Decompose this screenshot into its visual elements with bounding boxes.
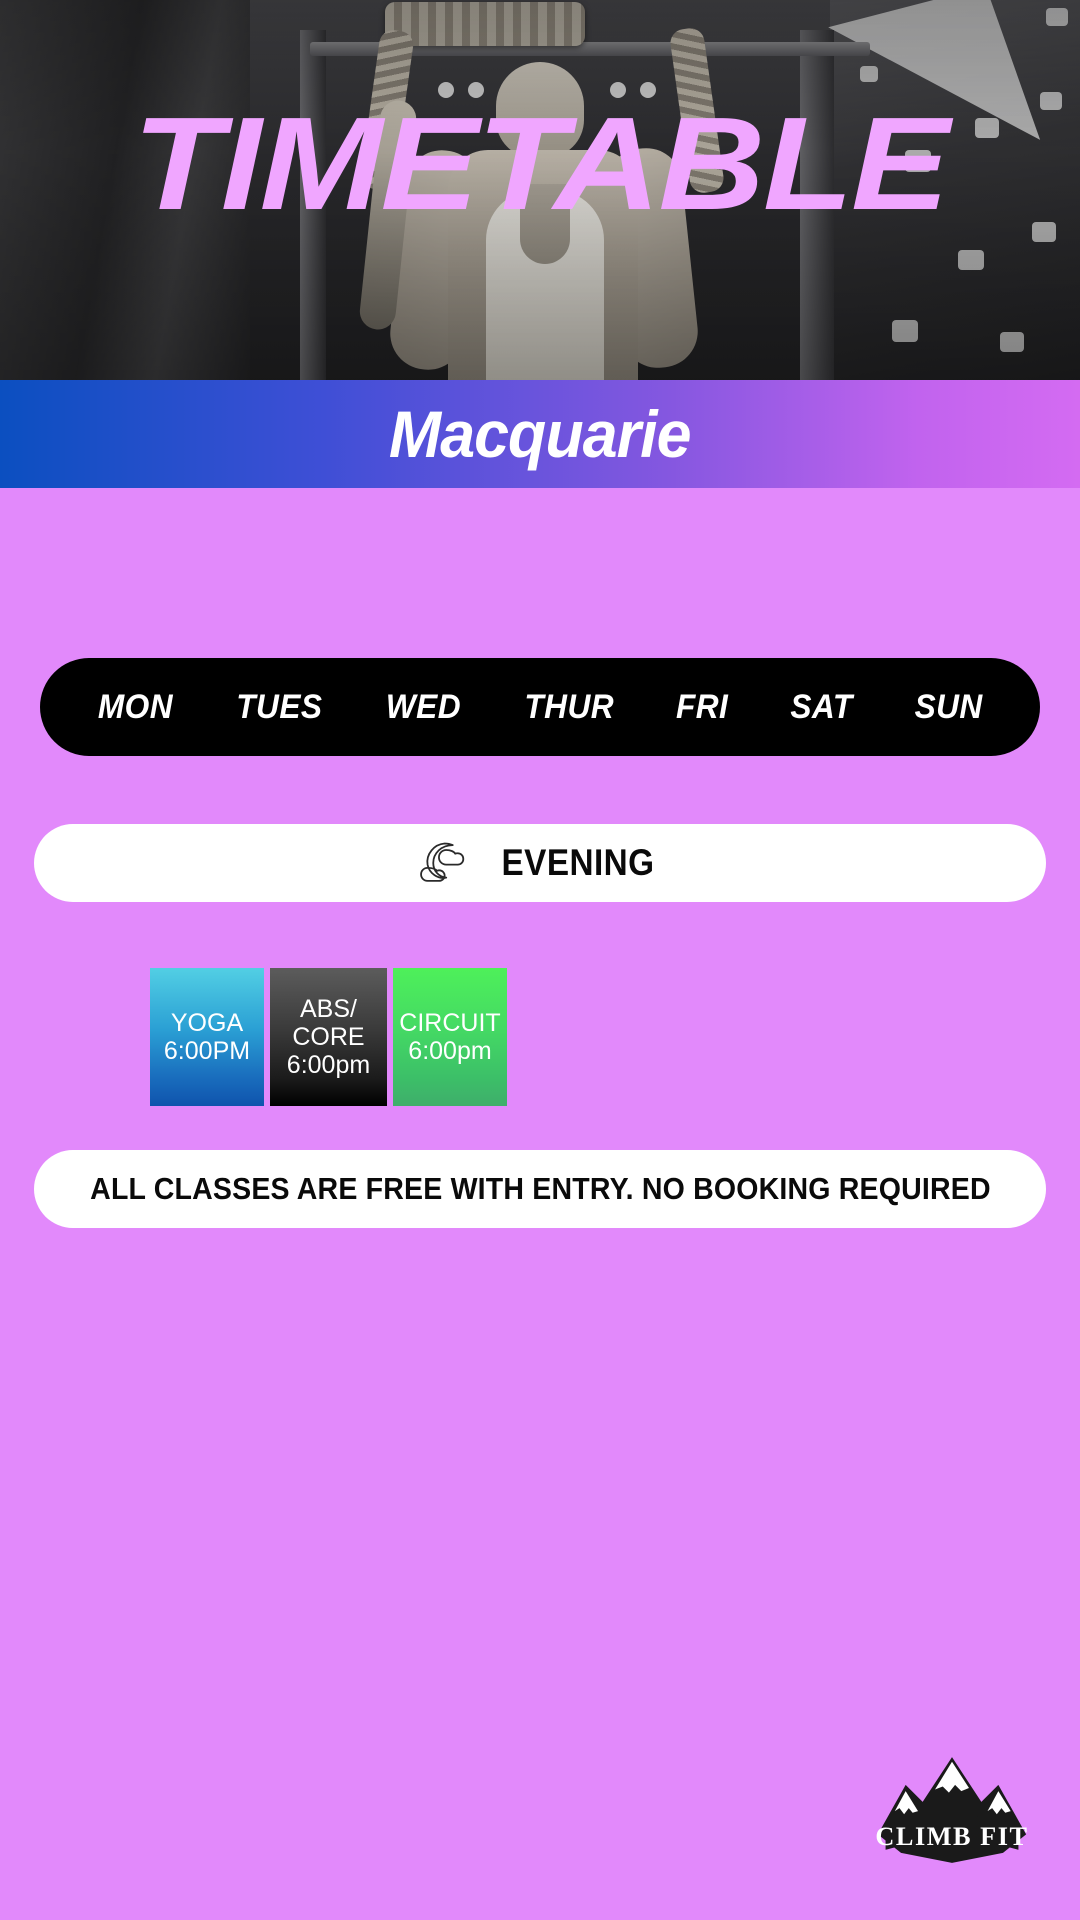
tab-sun[interactable]: SUN <box>915 688 983 727</box>
class-title: YOGA <box>171 1009 243 1037</box>
class-time: 6:00pm <box>287 1051 370 1079</box>
class-card-abs-core[interactable]: ABS/ CORE 6:00pm <box>270 968 387 1106</box>
tab-thur[interactable]: THUR <box>524 688 614 727</box>
section-header-evening: EVENING <box>34 824 1046 902</box>
location-name: Macquarie <box>389 396 691 472</box>
notice-banner: ALL CLASSES ARE FREE WITH ENTRY. NO BOOK… <box>34 1150 1046 1228</box>
timetable-page: TIMETABLE Macquarie MON TUES WED THUR FR… <box>0 0 1080 1920</box>
tab-wed[interactable]: WED <box>385 688 460 727</box>
day-tab-bar[interactable]: MON TUES WED THUR FRI SAT SUN <box>40 658 1040 756</box>
tab-tues[interactable]: TUES <box>236 688 322 727</box>
tab-sat[interactable]: SAT <box>790 688 852 727</box>
class-card-list: YOGA 6:00PM ABS/ CORE 6:00pm CIRCUIT 6:0… <box>150 968 507 1106</box>
section-label: EVENING <box>501 842 654 884</box>
class-time: 6:00PM <box>164 1037 250 1065</box>
class-title: CIRCUIT <box>399 1009 500 1037</box>
hero-banner: TIMETABLE <box>0 0 1080 380</box>
tab-mon[interactable]: MON <box>97 688 172 727</box>
class-card-circuit[interactable]: CIRCUIT 6:00pm <box>393 968 507 1106</box>
notice-text: ALL CLASSES ARE FREE WITH ENTRY. NO BOOK… <box>90 1171 991 1207</box>
class-time: 6:00pm <box>408 1037 491 1065</box>
logo-wordmark: CLIMB FIT <box>875 1822 1028 1851</box>
class-card-yoga[interactable]: YOGA 6:00PM <box>150 968 264 1106</box>
climb-fit-logo: CLIMB FIT <box>872 1754 1032 1866</box>
location-band: Macquarie <box>0 380 1080 488</box>
class-title-line1: ABS/ <box>300 995 357 1023</box>
class-title-line2: CORE <box>292 1023 364 1051</box>
tab-fri[interactable]: FRI <box>676 688 728 727</box>
page-title: TIMETABLE <box>0 98 1080 230</box>
moon-clouds-icon <box>417 837 469 889</box>
